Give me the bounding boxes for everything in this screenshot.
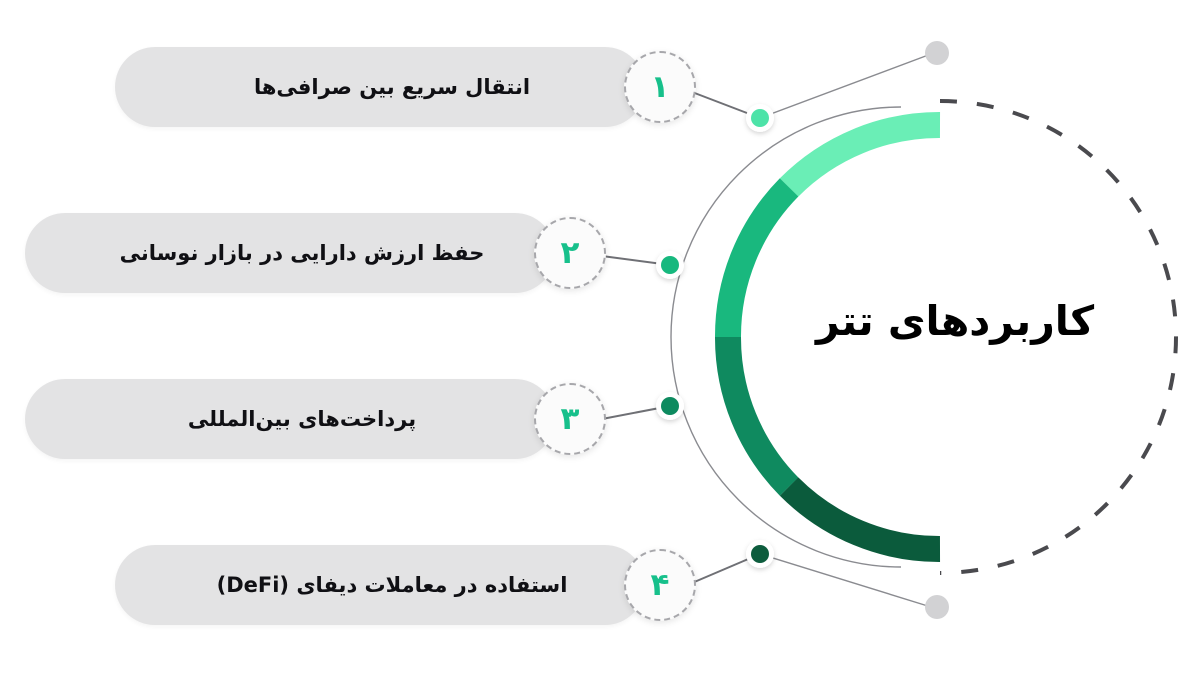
endpoint-line-top bbox=[760, 54, 931, 118]
use-case-label-3: پرداخت‌های بین‌المللی bbox=[188, 405, 416, 433]
node-dot-1 bbox=[746, 104, 774, 132]
use-case-pill-1[interactable]: انتقال سریع بین صرافی‌ها bbox=[115, 47, 645, 127]
connector-line-3 bbox=[602, 406, 670, 419]
step-number-circle-1[interactable]: ۱ bbox=[624, 51, 696, 123]
node-dot-3 bbox=[656, 392, 684, 420]
step-number-1: ۱ bbox=[651, 72, 670, 103]
step-number-circle-2[interactable]: ۲ bbox=[534, 217, 606, 289]
ring-segment-3 bbox=[728, 337, 789, 487]
infographic-root: انتقال سریع بین صرافی‌ها حفظ ارزش دارایی… bbox=[0, 0, 1200, 675]
step-number-4: ۴ bbox=[651, 570, 670, 601]
use-case-pill-3[interactable]: پرداخت‌های بین‌المللی bbox=[25, 379, 555, 459]
step-number-3: ۳ bbox=[561, 404, 580, 435]
use-case-pill-2[interactable]: حفظ ارزش دارایی در بازار نوسانی bbox=[25, 213, 555, 293]
use-case-label-1: انتقال سریع بین صرافی‌ها bbox=[254, 73, 530, 101]
connector-line-2 bbox=[602, 256, 670, 265]
use-case-pill-4[interactable]: استفاده در معاملات دیفای (DeFi) bbox=[115, 545, 645, 625]
connector-line-1 bbox=[692, 92, 760, 118]
ring-segment-4 bbox=[789, 487, 940, 549]
connector-line-4 bbox=[692, 554, 760, 583]
node-dot-2 bbox=[656, 251, 684, 279]
ring-segment-1 bbox=[789, 125, 940, 187]
node-dot-4 bbox=[746, 540, 774, 568]
step-number-2: ۲ bbox=[561, 238, 580, 269]
ring-segment-2 bbox=[728, 187, 789, 337]
endpoint-dot-top bbox=[925, 41, 949, 65]
center-title: کاربردهای تتر bbox=[790, 296, 1120, 347]
endpoint-line-bottom bbox=[760, 554, 931, 607]
step-number-circle-4[interactable]: ۴ bbox=[624, 549, 696, 621]
use-case-label-2: حفظ ارزش دارایی در بازار نوسانی bbox=[120, 239, 485, 267]
use-case-label-4: استفاده در معاملات دیفای (DeFi) bbox=[217, 571, 568, 599]
step-number-circle-3[interactable]: ۳ bbox=[534, 383, 606, 455]
endpoint-dot-bottom bbox=[925, 595, 949, 619]
